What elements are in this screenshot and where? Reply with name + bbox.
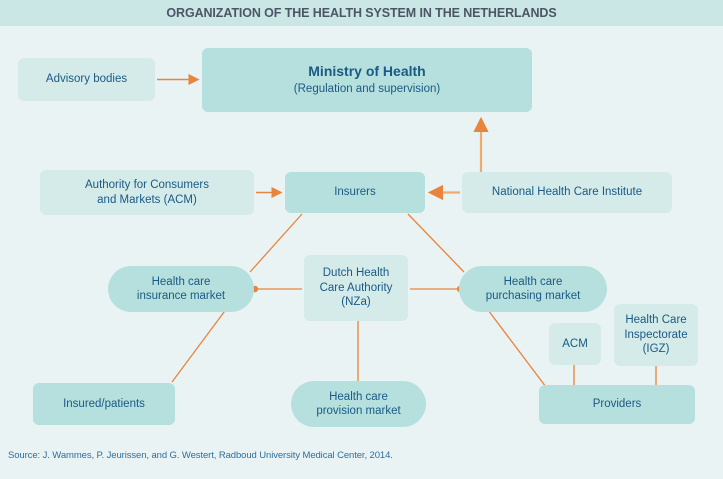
node-advisory-bodies-label: Advisory bodies — [46, 72, 127, 87]
node-providers[interactable]: Providers — [539, 385, 695, 424]
node-igz-line1: Health Care — [625, 313, 686, 328]
node-igz-line3: (IGZ) — [643, 342, 670, 357]
node-health-care-inspectorate[interactable]: Health Care Inspectorate (IGZ) — [614, 304, 698, 366]
node-ministry-of-health[interactable]: Ministry of Health (Regulation and super… — [202, 48, 532, 112]
node-nza-line1: Dutch Health — [323, 266, 389, 281]
node-insurance-market-line2: insurance market — [137, 289, 225, 304]
node-purchasing-market-line1: Health care — [504, 275, 563, 290]
node-advisory-bodies[interactable]: Advisory bodies — [18, 58, 155, 101]
node-dutch-health-care-authority[interactable]: Dutch Health Care Authority (NZa) — [304, 255, 408, 321]
node-health-care-insurance-market[interactable]: Health care insurance market — [108, 266, 254, 312]
page-title: ORGANIZATION OF THE HEALTH SYSTEM IN THE… — [0, 0, 723, 26]
connector-insurers-to-insurance-market — [250, 214, 302, 272]
node-acm-line2: and Markets (ACM) — [97, 193, 197, 208]
node-health-care-purchasing-market[interactable]: Health care purchasing market — [459, 266, 607, 312]
connector-purchasing-market-to-providers — [485, 306, 546, 387]
node-nza-line2: Care Authority — [320, 281, 393, 296]
node-health-care-provision-market[interactable]: Health care provision market — [291, 381, 426, 427]
node-ministry-title: Ministry of Health — [308, 63, 425, 80]
connector-insurers-to-purchasing-market — [408, 214, 464, 272]
node-insurers[interactable]: Insurers — [285, 172, 425, 213]
connector-insurance-market-to-insured — [172, 304, 230, 382]
node-purchasing-market-line2: purchasing market — [486, 289, 581, 304]
node-insured-patients[interactable]: Insured/patients — [33, 383, 175, 425]
node-ministry-subtitle: (Regulation and supervision) — [294, 81, 440, 98]
node-nza-line3: (NZa) — [341, 295, 370, 310]
node-insurers-label: Insurers — [334, 185, 376, 200]
node-acm-line1: Authority for Consumers — [85, 178, 209, 193]
node-providers-label: Providers — [593, 397, 642, 412]
node-insured-patients-label: Insured/patients — [63, 397, 145, 412]
node-insurance-market-line1: Health care — [152, 275, 211, 290]
diagram-canvas: ORGANIZATION OF THE HEALTH SYSTEM IN THE… — [0, 0, 723, 479]
node-provision-market-line1: Health care — [329, 390, 388, 405]
source-note: Source: J. Wammes, P. Jeurissen, and G. … — [8, 450, 393, 461]
node-acm-small[interactable]: ACM — [549, 323, 601, 365]
node-authority-consumers-markets[interactable]: Authority for Consumers and Markets (ACM… — [40, 170, 254, 215]
node-provision-market-line2: provision market — [316, 404, 400, 419]
node-acm-small-label: ACM — [562, 337, 588, 352]
node-national-health-care-institute[interactable]: National Health Care Institute — [462, 172, 672, 213]
node-national-health-care-institute-label: National Health Care Institute — [492, 185, 642, 200]
node-igz-line2: Inspectorate — [624, 328, 687, 343]
